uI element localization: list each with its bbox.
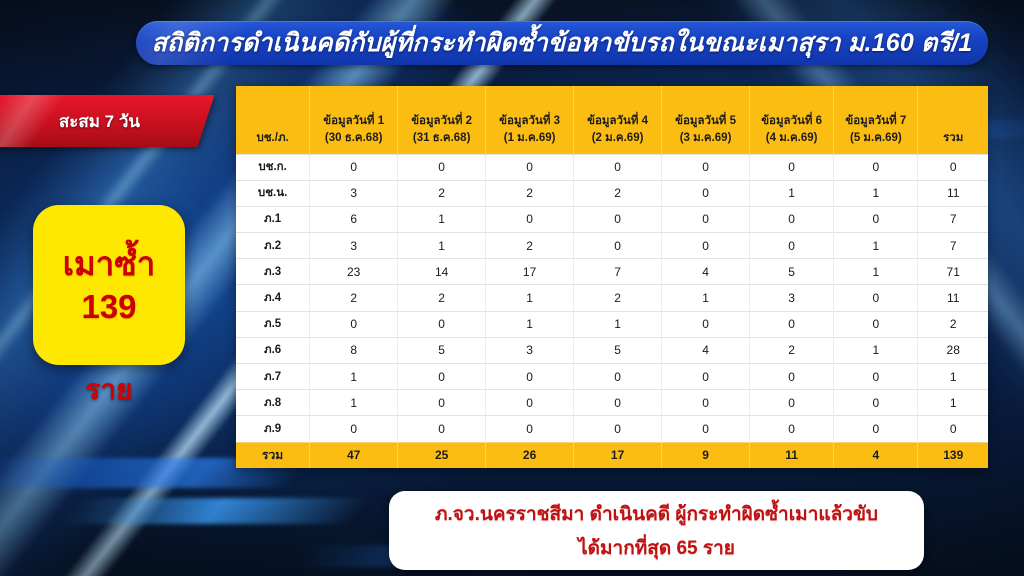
- table-cell: 0: [486, 364, 574, 390]
- table-cell: 2: [398, 180, 486, 206]
- table-row: ภ.231200017: [236, 233, 988, 259]
- table-total-cell: 17: [574, 442, 662, 468]
- table-total-cell: 11: [750, 442, 834, 468]
- table-row-total: 1: [918, 364, 988, 390]
- table-column-header-line-2: รวม: [920, 130, 986, 147]
- table-column-header: ข้อมูลวันที่ 4(2 ม.ค.69): [574, 86, 662, 154]
- table-cell: 4: [662, 259, 750, 285]
- table-row-label: ภ.3: [236, 259, 310, 285]
- table-cell: 1: [834, 180, 918, 206]
- table-row-total: 71: [918, 259, 988, 285]
- table-cell: 1: [310, 364, 398, 390]
- table-total-cell: 25: [398, 442, 486, 468]
- table-column-header-line-2: (30 ธ.ค.68): [312, 130, 395, 147]
- table-cell: 2: [310, 285, 398, 311]
- table-cell: 0: [750, 206, 834, 232]
- table-row: ภ.710000001: [236, 364, 988, 390]
- table-cell: 0: [834, 364, 918, 390]
- table-total-label: รวม: [236, 442, 310, 468]
- table-column-header-line-1: ข้อมูลวันที่ 2: [400, 113, 483, 130]
- table-total-row: รวม472526179114139: [236, 442, 988, 468]
- table-row: ภ.4221213011: [236, 285, 988, 311]
- table-cell: 2: [574, 180, 662, 206]
- table-row: ภ.500110002: [236, 311, 988, 337]
- table-row-label: บช.น.: [236, 180, 310, 206]
- table-column-header: ข้อมูลวันที่ 2(31 ธ.ค.68): [398, 86, 486, 154]
- table-row-label: ภ.7: [236, 364, 310, 390]
- stat-unit: ราย: [33, 368, 185, 412]
- table-row-total: 11: [918, 180, 988, 206]
- footer-caption: ภ.จว.นครราชสีมา ดำเนินคดี ผู้กระทำผิดซ้ำ…: [389, 491, 924, 570]
- table-cell: 0: [750, 364, 834, 390]
- table-column-header-line-2: (5 ม.ค.69): [836, 130, 915, 147]
- table-column-header-line-1: ข้อมูลวันที่ 3: [488, 113, 571, 130]
- table-cell: 6: [310, 206, 398, 232]
- table-column-header: ข้อมูลวันที่ 3(1 ม.ค.69): [486, 86, 574, 154]
- accumulation-banner: สะสม 7 วัน: [0, 95, 214, 147]
- statistics-table: บช./ภ.ข้อมูลวันที่ 1(30 ธ.ค.68)ข้อมูลวัน…: [236, 86, 988, 468]
- table-cell: 0: [834, 416, 918, 442]
- table-cell: 0: [662, 233, 750, 259]
- table-cell: 5: [398, 337, 486, 363]
- statistics-table-wrapper: บช./ภ.ข้อมูลวันที่ 1(30 ธ.ค.68)ข้อมูลวัน…: [236, 86, 988, 468]
- footer-caption-line-2: ได้มากที่สุด 65 ราย: [578, 533, 735, 563]
- table-cell: 1: [486, 285, 574, 311]
- table-cell: 0: [662, 154, 750, 180]
- table-cell: 2: [750, 337, 834, 363]
- table-cell: 1: [750, 180, 834, 206]
- table-cell: 0: [662, 416, 750, 442]
- table-cell: 4: [662, 337, 750, 363]
- table-row-total: 1: [918, 390, 988, 416]
- table-cell: 0: [834, 206, 918, 232]
- table-row: บช.ก.00000000: [236, 154, 988, 180]
- table-cell: 7: [574, 259, 662, 285]
- table-column-header: บช./ภ.: [236, 86, 310, 154]
- table-cell: 0: [486, 390, 574, 416]
- table-cell: 1: [486, 311, 574, 337]
- table-header-row: บช./ภ.ข้อมูลวันที่ 1(30 ธ.ค.68)ข้อมูลวัน…: [236, 86, 988, 154]
- table-cell: 0: [574, 416, 662, 442]
- table-column-header-line-2: (31 ธ.ค.68): [400, 130, 483, 147]
- table-cell: 1: [834, 259, 918, 285]
- table-cell: 2: [486, 180, 574, 206]
- table-column-header-line-2: (3 ม.ค.69): [664, 130, 747, 147]
- table-cell: 0: [662, 311, 750, 337]
- page-title-banner: สถิติการดำเนินคดีกับผู้ที่กระทำผิดซ้ำข้อ…: [136, 21, 988, 65]
- table-cell: 1: [834, 233, 918, 259]
- table-row-label: บช.ก.: [236, 154, 310, 180]
- table-cell: 2: [398, 285, 486, 311]
- table-cell: 17: [486, 259, 574, 285]
- table-cell: 0: [662, 206, 750, 232]
- footer-caption-line-1: ภ.จว.นครราชสีมา ดำเนินคดี ผู้กระทำผิดซ้ำ…: [435, 499, 878, 529]
- table-row-total: 2: [918, 311, 988, 337]
- table-cell: 0: [398, 311, 486, 337]
- table-cell: 0: [750, 390, 834, 416]
- table-cell: 0: [750, 416, 834, 442]
- table-cell: 0: [486, 154, 574, 180]
- table-row-total: 0: [918, 154, 988, 180]
- table-cell: 0: [834, 311, 918, 337]
- table-total-cell: 9: [662, 442, 750, 468]
- table-cell: 3: [310, 180, 398, 206]
- table-total-cell: 26: [486, 442, 574, 468]
- table-cell: 0: [834, 285, 918, 311]
- table-cell: 0: [662, 180, 750, 206]
- table-cell: 3: [486, 337, 574, 363]
- table-row-label: ภ.6: [236, 337, 310, 363]
- table-column-header-line-1: ข้อมูลวันที่ 4: [576, 113, 659, 130]
- table-cell: 14: [398, 259, 486, 285]
- table-cell: 0: [662, 364, 750, 390]
- table-cell: 1: [662, 285, 750, 311]
- table-cell: 0: [398, 154, 486, 180]
- table-row-label: ภ.1: [236, 206, 310, 232]
- table-cell: 0: [574, 233, 662, 259]
- table-cell: 0: [310, 416, 398, 442]
- table-body: บช.ก.00000000บช.น.322201111ภ.161000007ภ.…: [236, 154, 988, 468]
- table-cell: 8: [310, 337, 398, 363]
- table-cell: 0: [834, 154, 918, 180]
- table-cell: 0: [750, 154, 834, 180]
- table-cell: 3: [750, 285, 834, 311]
- stat-value: 139: [81, 290, 136, 323]
- table-cell: 23: [310, 259, 398, 285]
- table-column-header: ข้อมูลวันที่ 7(5 ม.ค.69): [834, 86, 918, 154]
- table-cell: 3: [310, 233, 398, 259]
- table-cell: 5: [750, 259, 834, 285]
- table-row-label: ภ.4: [236, 285, 310, 311]
- table-row-total: 28: [918, 337, 988, 363]
- table-cell: 0: [310, 311, 398, 337]
- table-column-header: ข้อมูลวันที่ 1(30 ธ.ค.68): [310, 86, 398, 154]
- table-row: ภ.810000001: [236, 390, 988, 416]
- table-row-label: ภ.9: [236, 416, 310, 442]
- table-cell: 0: [750, 233, 834, 259]
- table-column-header: รวม: [918, 86, 988, 154]
- table-cell: 0: [574, 154, 662, 180]
- table-cell: 2: [486, 233, 574, 259]
- table-row: ภ.6853542128: [236, 337, 988, 363]
- table-column-header-line-1: ข้อมูลวันที่ 1: [312, 113, 395, 130]
- accumulation-banner-label: สะสม 7 วัน: [41, 108, 140, 135]
- table-total-cell: 4: [834, 442, 918, 468]
- table-cell: 0: [834, 390, 918, 416]
- table-row-label: ภ.2: [236, 233, 310, 259]
- table-column-header: ข้อมูลวันที่ 6(4 ม.ค.69): [750, 86, 834, 154]
- table-row-total: 0: [918, 416, 988, 442]
- table-column-header-line-1: ข้อมูลวันที่ 6: [752, 113, 831, 130]
- table-cell: 0: [486, 206, 574, 232]
- table-cell: 0: [398, 416, 486, 442]
- table-row-total: 7: [918, 233, 988, 259]
- table-cell: 0: [662, 390, 750, 416]
- table-cell: 0: [398, 390, 486, 416]
- table-row: ภ.3231417745171: [236, 259, 988, 285]
- table-row-label: ภ.5: [236, 311, 310, 337]
- table-column-header-line-2: บช./ภ.: [238, 130, 307, 147]
- table-cell: 5: [574, 337, 662, 363]
- table-cell: 0: [574, 364, 662, 390]
- table-column-header-line-2: (4 ม.ค.69): [752, 130, 831, 147]
- table-cell: 0: [310, 154, 398, 180]
- stat-label: เมาซ้ำ: [63, 247, 156, 280]
- table-cell: 0: [398, 364, 486, 390]
- table-row: ภ.161000007: [236, 206, 988, 232]
- table-cell: 1: [310, 390, 398, 416]
- table-row: บช.น.322201111: [236, 180, 988, 206]
- table-cell: 1: [398, 233, 486, 259]
- page-title: สถิติการดำเนินคดีกับผู้ที่กระทำผิดซ้ำข้อ…: [152, 23, 973, 63]
- table-column-header-line-1: ข้อมูลวันที่ 7: [836, 113, 915, 130]
- repeat-offender-stat-box: เมาซ้ำ 139: [33, 205, 185, 365]
- table-row-total: 11: [918, 285, 988, 311]
- table-row-label: ภ.8: [236, 390, 310, 416]
- table-cell: 1: [834, 337, 918, 363]
- table-cell: 1: [574, 311, 662, 337]
- table-cell: 2: [574, 285, 662, 311]
- table-header: บช./ภ.ข้อมูลวันที่ 1(30 ธ.ค.68)ข้อมูลวัน…: [236, 86, 988, 154]
- table-column-header-line-1: ข้อมูลวันที่ 5: [664, 113, 747, 130]
- table-row: ภ.900000000: [236, 416, 988, 442]
- table-column-header-line-2: (2 ม.ค.69): [576, 130, 659, 147]
- table-cell: 1: [398, 206, 486, 232]
- table-total-cell: 47: [310, 442, 398, 468]
- table-cell: 0: [574, 206, 662, 232]
- table-row-total: 7: [918, 206, 988, 232]
- table-cell: 0: [486, 416, 574, 442]
- table-grand-total: 139: [918, 442, 988, 468]
- table-cell: 0: [574, 390, 662, 416]
- table-column-header: ข้อมูลวันที่ 5(3 ม.ค.69): [662, 86, 750, 154]
- table-cell: 0: [750, 311, 834, 337]
- table-column-header-line-2: (1 ม.ค.69): [488, 130, 571, 147]
